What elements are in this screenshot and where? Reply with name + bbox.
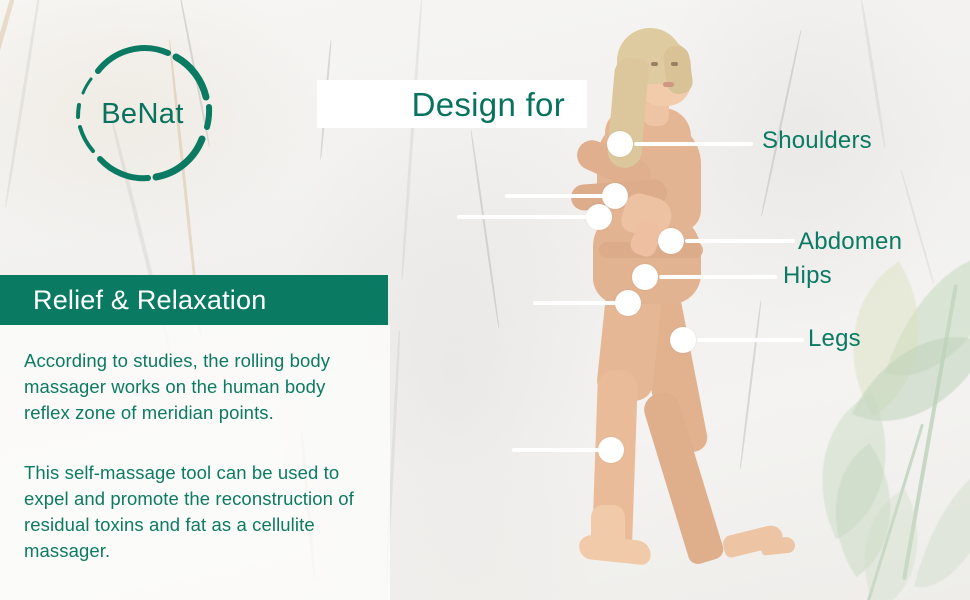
callout-label: Shoulders: [762, 129, 872, 153]
callout-label: Legs: [808, 327, 861, 351]
callout-line: [659, 275, 777, 279]
callout-dot: [615, 290, 641, 316]
relief-relaxation-title: Relief & Relaxation: [33, 285, 266, 316]
callout-dot: [632, 264, 658, 290]
callout-dot: [607, 131, 633, 157]
info-paragraph-1: According to studies, the rolling body m…: [24, 348, 374, 426]
design-for-title: Design for: [412, 88, 565, 121]
callout-line: [457, 215, 594, 219]
relief-relaxation-banner: Relief & Relaxation: [0, 275, 388, 325]
callout-label: Hips: [783, 264, 832, 288]
callout-dot: [586, 204, 612, 230]
promo-banner: BeNat Design for Relief & Relaxation Acc…: [0, 0, 970, 600]
info-paragraph-2: This self-massage tool can be used to ex…: [24, 460, 374, 564]
callout-dot: [598, 437, 624, 463]
callout-line: [697, 338, 804, 342]
callout-dot: [658, 228, 684, 254]
callout-line: [533, 301, 623, 305]
callout-line: [512, 448, 606, 452]
brand-logo: BeNat: [60, 35, 225, 195]
callout-line: [634, 142, 753, 146]
brand-logo-text: BeNat: [60, 98, 225, 131]
callout-line: [505, 194, 610, 198]
callout-label: Abdomen: [798, 230, 902, 254]
callout-dot: [670, 327, 696, 353]
design-for-header: Design for: [317, 80, 587, 128]
callout-line: [685, 239, 795, 243]
